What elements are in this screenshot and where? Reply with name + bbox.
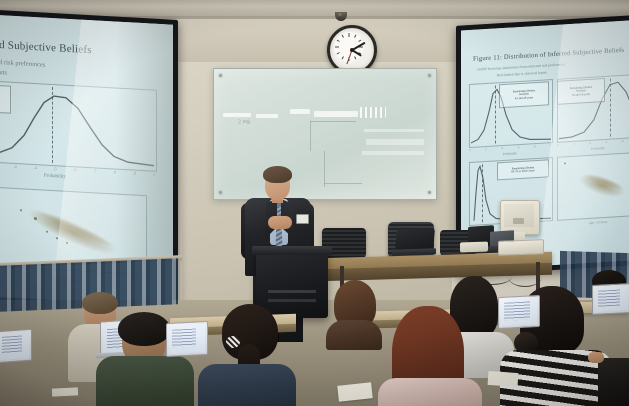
right-panel-3-legend: Remaining lifetime 60-79 or more years xyxy=(497,159,549,180)
whiteboard-mount-stud xyxy=(219,74,222,77)
right-panel-1-legend: Remaining lifetime between 45 and 49 yea… xyxy=(499,81,549,108)
clock-tick xyxy=(342,35,344,38)
whiteboard-window-reflection xyxy=(360,107,386,118)
left-scatter-point xyxy=(20,209,22,211)
right-slide-subtitle-1: 10,000 bootstrap simulations from estima… xyxy=(477,62,565,71)
left-top-chart-panel xyxy=(0,79,157,172)
left-scatter-point xyxy=(34,217,37,220)
presenter-laptop-lid xyxy=(395,229,435,250)
lectern-top xyxy=(252,246,332,255)
student-5-laptop-screen xyxy=(501,298,537,326)
axis-tick-label: .4 xyxy=(589,141,591,145)
axis-tick-label: .7 xyxy=(93,168,96,173)
whiteboard-light-reflection xyxy=(364,129,424,132)
whiteboard-reflection-line xyxy=(324,183,362,184)
axis-tick-label: .8 xyxy=(533,144,535,148)
axis-tick-label: .6 xyxy=(605,140,607,144)
student-8-laptop[interactable] xyxy=(592,283,629,315)
axis-tick-label: 0 xyxy=(469,148,471,152)
whiteboard-mount-stud xyxy=(219,191,222,194)
student-7-hand xyxy=(588,352,604,363)
left-scatter-point xyxy=(56,237,58,239)
clock-tick xyxy=(342,57,344,60)
right-panel-2-legend: Remaining lifetime between 50 and 59 yea… xyxy=(557,78,605,105)
axis-tick-label: 1 xyxy=(153,172,155,177)
axis-tick-label: .8 xyxy=(113,169,116,174)
student-8-laptop-text xyxy=(598,290,620,307)
axis-tick-label: .6 xyxy=(517,145,519,149)
student-edge-laptop-screen xyxy=(0,332,29,360)
left-slide-title: f Inferred Subjective Beliefs xyxy=(0,37,92,56)
student-5-laptop[interactable] xyxy=(498,295,540,329)
student-7-bag xyxy=(598,358,629,406)
student-1-hair xyxy=(82,292,118,314)
clock-tick xyxy=(359,47,363,48)
clock-tick xyxy=(337,52,340,54)
whiteboard-reflection-line xyxy=(310,121,356,122)
left-scatter-point xyxy=(66,242,68,244)
axis-tick-label: .2 xyxy=(573,142,575,146)
whiteboard-mount-stud xyxy=(428,191,431,194)
right-panel-1-dashed-ref xyxy=(495,85,496,143)
left-top-dashed-ref xyxy=(52,87,53,163)
paper-sheet xyxy=(488,371,519,387)
student-2-laptop[interactable] xyxy=(166,321,208,357)
clock-tick xyxy=(354,35,356,38)
axis-tick-label: .2 xyxy=(485,147,487,151)
student-edge-laptop-text xyxy=(2,335,22,353)
student-3-body xyxy=(198,364,296,406)
whiteboard-light-reflection xyxy=(314,111,358,117)
clock-tick xyxy=(354,57,356,60)
left-top-legend: Remaining lifetime between 50 and 59 yea… xyxy=(0,83,11,114)
whiteboard-light-reflection xyxy=(290,109,310,114)
whiteboard-mount-stud xyxy=(428,74,431,77)
axis-tick-label: 0 xyxy=(557,143,559,147)
lecture-hall-photo: f Inferred Subjective Beliefs s from est… xyxy=(0,0,629,406)
clock-tick xyxy=(349,33,350,37)
lectern-detail xyxy=(268,290,316,293)
student-2-laptop-screen xyxy=(169,324,205,354)
presenter-hair xyxy=(263,166,292,183)
right-panel-2-dashed-ref xyxy=(610,79,611,137)
axis-tick-label: .8 xyxy=(621,139,623,143)
student-8-laptop-screen xyxy=(595,286,628,312)
right-panel-4 xyxy=(557,152,629,221)
axis-tick-label: .3 xyxy=(14,164,17,169)
student-edge-laptop[interactable] xyxy=(0,329,32,364)
whiteboard-reflection-line xyxy=(324,151,325,187)
lectern-detail xyxy=(268,299,316,302)
whiteboard-reflection-line xyxy=(310,121,311,151)
right-panel-3-dashed-ref xyxy=(482,164,483,222)
clock-center-pin xyxy=(350,48,354,52)
student-3-hair-tie xyxy=(226,336,240,348)
student-2-body xyxy=(96,356,194,406)
right-slide-subtitle-2: Red dashed line is observed inputs xyxy=(497,70,547,77)
whiteboard-light-reflection xyxy=(362,151,424,155)
left-slide-subtitle-1: s from estimated risk preferences xyxy=(0,57,45,69)
presenter-hands xyxy=(268,216,292,229)
right-scatter-outlier xyxy=(564,162,566,164)
monitor-brand-logo xyxy=(513,218,524,224)
left-slide-subtitle-2: as observed inputs xyxy=(0,67,7,77)
axis-tick-label: 1 xyxy=(550,143,552,147)
clock-tick xyxy=(337,40,340,42)
axis-tick-label: .6 xyxy=(73,167,76,172)
student-2-laptop-text xyxy=(172,329,196,348)
student-2-hair xyxy=(118,312,170,346)
right-slide-title: Figure 11: Distribution of Inferred Subj… xyxy=(473,47,624,63)
axis-tick-label: .9 xyxy=(133,171,136,176)
left-density-curve xyxy=(0,80,156,171)
student-6-body xyxy=(378,378,482,406)
axis-tick-label: .4 xyxy=(501,146,503,150)
left-scatter-point xyxy=(46,231,48,233)
projector-unit[interactable] xyxy=(498,239,544,256)
av-switcher[interactable] xyxy=(460,242,488,253)
glass-whiteboard[interactable]: 2 mg xyxy=(213,68,437,200)
student-4-body xyxy=(326,320,382,350)
presenter-name-badge xyxy=(296,214,309,224)
whiteboard-light-reflection xyxy=(223,113,251,117)
paper-sheet xyxy=(52,387,78,396)
clock-tick xyxy=(359,40,362,42)
clock-tick xyxy=(335,47,339,48)
axis-tick-label: .4 xyxy=(34,165,37,170)
whiteboard-ink-note: 2 mg xyxy=(238,119,251,126)
whiteboard-light-reflection xyxy=(256,114,278,118)
student-5-laptop-text xyxy=(504,301,530,320)
axis-tick-label: .5 xyxy=(53,166,56,171)
lectern xyxy=(256,250,328,318)
whiteboard-light-reflection xyxy=(366,139,424,145)
